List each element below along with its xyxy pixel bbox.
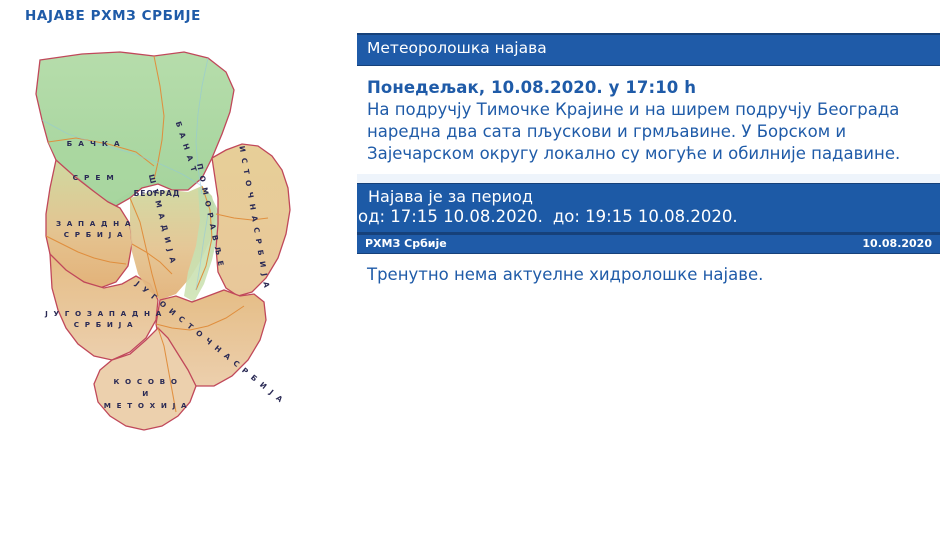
meteo-header-label: Метеоролошка најава — [367, 39, 547, 57]
meteo-body: Понедељак, 10.08.2020. у 17:10 h На подр… — [357, 66, 940, 174]
map-label-metohija: М Е Т О Х И Ј А — [104, 401, 188, 410]
hydro-text: Тренутно нема актуелне хидролошке најаве… — [367, 265, 930, 284]
source-bar: РХМЗ Србије 10.08.2020 — [357, 233, 940, 254]
period-from: од: 17:15 10.08.2020. — [358, 207, 543, 226]
warning-panel: Метеоролошка најава Понедељак, 10.08.202… — [357, 33, 940, 294]
meteo-warning-text: На подручју Тимочке Крајине и на ширем п… — [367, 99, 930, 164]
page-title: НАЈАВЕ РХМЗ СРБИЈЕ — [25, 8, 201, 24]
hydro-section: Тренутно нема актуелне хидролошке најаве… — [357, 254, 940, 294]
map-label-srem: С Р Е М — [73, 173, 116, 182]
serbia-map: Б А Ч К А Б А Н А Т С Р Е М БЕОГРАД З А … — [12, 38, 342, 483]
map-label-jugozapadna-srbija-2: С Р Б И Ј А — [74, 320, 134, 329]
period-range: од: 17:15 10.08.2020.до: 19:15 10.08.202… — [357, 207, 940, 228]
map-label-zapadna-srbija-2: С Р Б И Ј А — [64, 230, 124, 239]
map-label-jugozapadna-srbija: Ј У Г О З А П А Д Н А — [44, 309, 163, 318]
period-spacer — [357, 174, 940, 183]
period-bar: Најава је за период од: 17:15 10.08.2020… — [357, 183, 940, 233]
period-title: Најава је за период — [357, 187, 940, 207]
period-to: до: 19:15 10.08.2020. — [553, 207, 738, 226]
map-label-zapadna-srbija: З А П А Д Н А — [56, 219, 132, 228]
map-label-kosovo: К О С О В О — [113, 377, 178, 386]
source-label: РХМЗ Србије — [365, 237, 447, 250]
source-date: 10.08.2020 — [862, 237, 932, 250]
map-label-backa: Б А Ч К А — [67, 139, 122, 148]
meteo-date-line: Понедељак, 10.08.2020. у 17:10 h — [367, 78, 930, 97]
map-label-kosovo-i: И — [142, 389, 150, 398]
meteo-header-bar: Метеоролошка најава — [357, 33, 940, 66]
